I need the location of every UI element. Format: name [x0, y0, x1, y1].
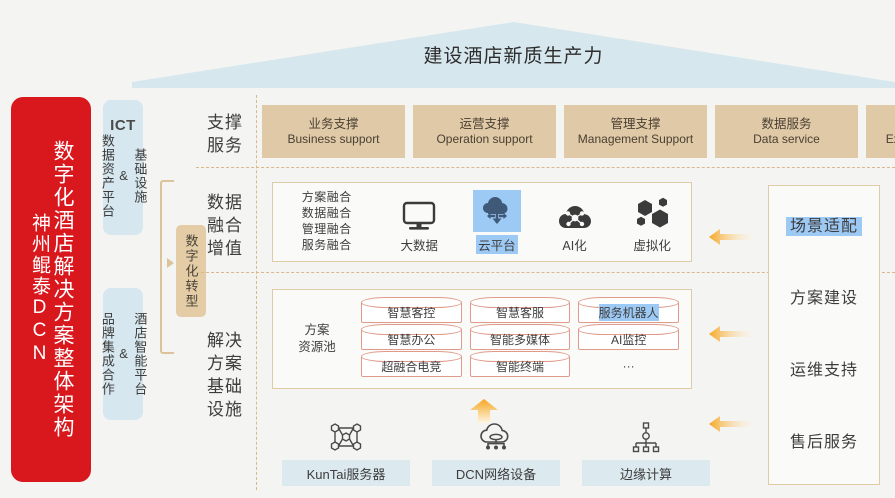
infra-item-network[interactable]: DCN网络设备 — [432, 420, 560, 486]
pool-item[interactable]: 超融合电竞 — [361, 356, 462, 377]
support-card-en: Management Support — [578, 132, 693, 148]
pool-item[interactable]: 智能多媒体 — [470, 329, 571, 350]
fusion-list: 方案融合 数据融合 管理融合 服务融合 — [273, 190, 380, 253]
right-service-label: 方案建设 — [786, 289, 862, 308]
fusion-item-ai[interactable]: AI化 — [536, 190, 614, 254]
edge-node-icon — [629, 420, 663, 454]
right-services-panel: 场景适配 方案建设 运维支持 售后服务 — [768, 185, 880, 485]
row-label-fusion: 数据 融合 增值 — [196, 192, 254, 261]
fusion-item-bigdata[interactable]: 大数据 — [380, 190, 458, 254]
pool-item[interactable]: 服务机器人 — [578, 302, 679, 323]
fusion-item-cloud[interactable]: 云平台 — [458, 190, 536, 254]
support-card-cn: 运营支撑 — [459, 116, 509, 132]
right-service-label: 场景适配 — [786, 217, 862, 236]
support-card-en: Data service — [753, 132, 820, 148]
data-fusion-panel: 方案融合 数据融合 管理融合 服务融合 大数据 — [272, 182, 692, 262]
support-card-operation[interactable]: 运营支撑 Operation support — [413, 105, 556, 158]
support-card-cn: 管理支撑 — [610, 116, 660, 132]
cubes-icon — [632, 190, 672, 232]
pool-item-label: 智能多媒体 — [490, 331, 550, 348]
ai-cloud-icon — [555, 190, 595, 232]
right-service-construction[interactable]: 方案建设 — [769, 284, 879, 308]
architecture-diagram: 数字化酒店解决方案整体架构 神州鲲泰DCN ICT 基础设施 & 数据资产平台 … — [0, 0, 895, 498]
flow-arrow-operation-icon — [708, 325, 754, 343]
flow-arrow-scenario-icon — [708, 228, 754, 246]
right-service-label: 运维支持 — [786, 361, 862, 380]
fusion-item-label: 大数据 — [399, 235, 441, 254]
fusion-item-label: AI化 — [560, 235, 588, 254]
infra-item-server[interactable]: KunTai服务器 — [282, 420, 410, 486]
right-service-scenario[interactable]: 场景适配 — [769, 212, 879, 236]
support-card-business[interactable]: 业务支撑 Business support — [262, 105, 405, 158]
support-card-data[interactable]: 数据服务 Data service — [715, 105, 858, 158]
pool-item-label: 智慧办公 — [387, 331, 435, 348]
monitor-icon — [401, 190, 437, 232]
right-service-operation[interactable]: 运维支持 — [769, 356, 879, 380]
row-label-infrastructure: 解决 方案 基础 设施 — [196, 330, 254, 422]
fusion-item-label: 虚拟化 — [631, 235, 673, 254]
banner-title: 数字化酒店解决方案整体架构 — [51, 140, 73, 439]
infra-item-label: DCN网络设备 — [432, 460, 560, 486]
support-card-en: Business support — [287, 132, 379, 148]
support-card-management[interactable]: 管理支撑 Management Support — [564, 105, 707, 158]
cloud-network-icon — [476, 420, 516, 454]
support-card-en: Operation support — [436, 132, 532, 148]
support-card-experience[interactable]: 体验服务 Experience Service — [866, 105, 895, 158]
infra-item-label: KunTai服务器 — [282, 460, 410, 486]
support-card-cn: 数据服务 — [761, 116, 811, 132]
pool-item[interactable]: AI监控 — [578, 329, 679, 350]
right-service-label: 售后服务 — [786, 433, 862, 452]
hotel-platform-box: 酒店智能平台 & 品牌集成合作 — [103, 288, 143, 420]
infrastructure-row: KunTai服务器 DCN网络设备 — [282, 420, 710, 486]
roof-title: 建设酒店新质生产力 — [132, 22, 895, 88]
title-banner: 数字化酒店解决方案整体架构 神州鲲泰DCN — [11, 97, 91, 482]
pool-item[interactable]: 智慧办公 — [361, 329, 462, 350]
divider-row-1 — [196, 167, 895, 168]
pool-item-label: 服务机器人 — [599, 304, 659, 321]
pool-item-more: ··· — [578, 356, 679, 377]
bracket-arrow-icon — [167, 258, 174, 268]
support-card-en: Experience Service — [886, 132, 895, 148]
ict-abbr-label: ICT — [110, 117, 136, 134]
pool-item-label: 超融合电竞 — [381, 358, 441, 375]
pool-item-label: 智能终端 — [496, 358, 544, 375]
pool-item[interactable]: 智慧客服 — [470, 302, 571, 323]
hotel-description: 酒店智能平台 & 品牌集成合作 — [99, 312, 148, 396]
fusion-item-virtualization[interactable]: 虚拟化 — [613, 190, 691, 254]
resource-pool-grid: 智慧客控 智慧客服 服务机器人 智慧办公 智能多媒体 AI监控 超融合电竞 智能… — [361, 302, 691, 377]
pool-item[interactable]: 智慧客控 — [361, 302, 462, 323]
server-mesh-icon — [329, 420, 363, 454]
cloud-sync-icon — [473, 190, 521, 232]
banner-subtitle: 神州鲲泰DCN — [29, 213, 49, 366]
pool-item-label: 智慧客控 — [387, 304, 435, 321]
ict-platform-box: ICT 基础设施 & 数据资产平台 — [103, 100, 143, 235]
pool-item-label: ··· — [623, 359, 635, 373]
support-services-row: 业务支撑 Business support 运营支撑 Operation sup… — [262, 105, 895, 158]
resource-pool-panel: 方案 资源池 智慧客控 智慧客服 服务机器人 智慧办公 智能多媒体 AI监控 超… — [272, 289, 692, 389]
ict-description: 基础设施 & 数据资产平台 — [99, 134, 148, 218]
infra-item-label: 边缘计算 — [582, 460, 710, 486]
infra-item-edge[interactable]: 边缘计算 — [582, 420, 710, 486]
pool-item-label: 智慧客服 — [496, 304, 544, 321]
flow-arrow-aftersales-icon — [708, 415, 754, 433]
pool-item-label: AI监控 — [611, 331, 646, 348]
divider-column — [256, 95, 257, 490]
row-label-support: 支撑 服务 — [196, 112, 254, 158]
roof-shape: 建设酒店新质生产力 — [132, 22, 895, 88]
fusion-item-label: 云平台 — [476, 235, 518, 254]
right-service-aftersales[interactable]: 售后服务 — [769, 428, 879, 452]
resource-pool-label: 方案 资源池 — [273, 322, 361, 356]
support-card-cn: 业务支撑 — [308, 116, 358, 132]
pool-item[interactable]: 智能终端 — [470, 356, 571, 377]
